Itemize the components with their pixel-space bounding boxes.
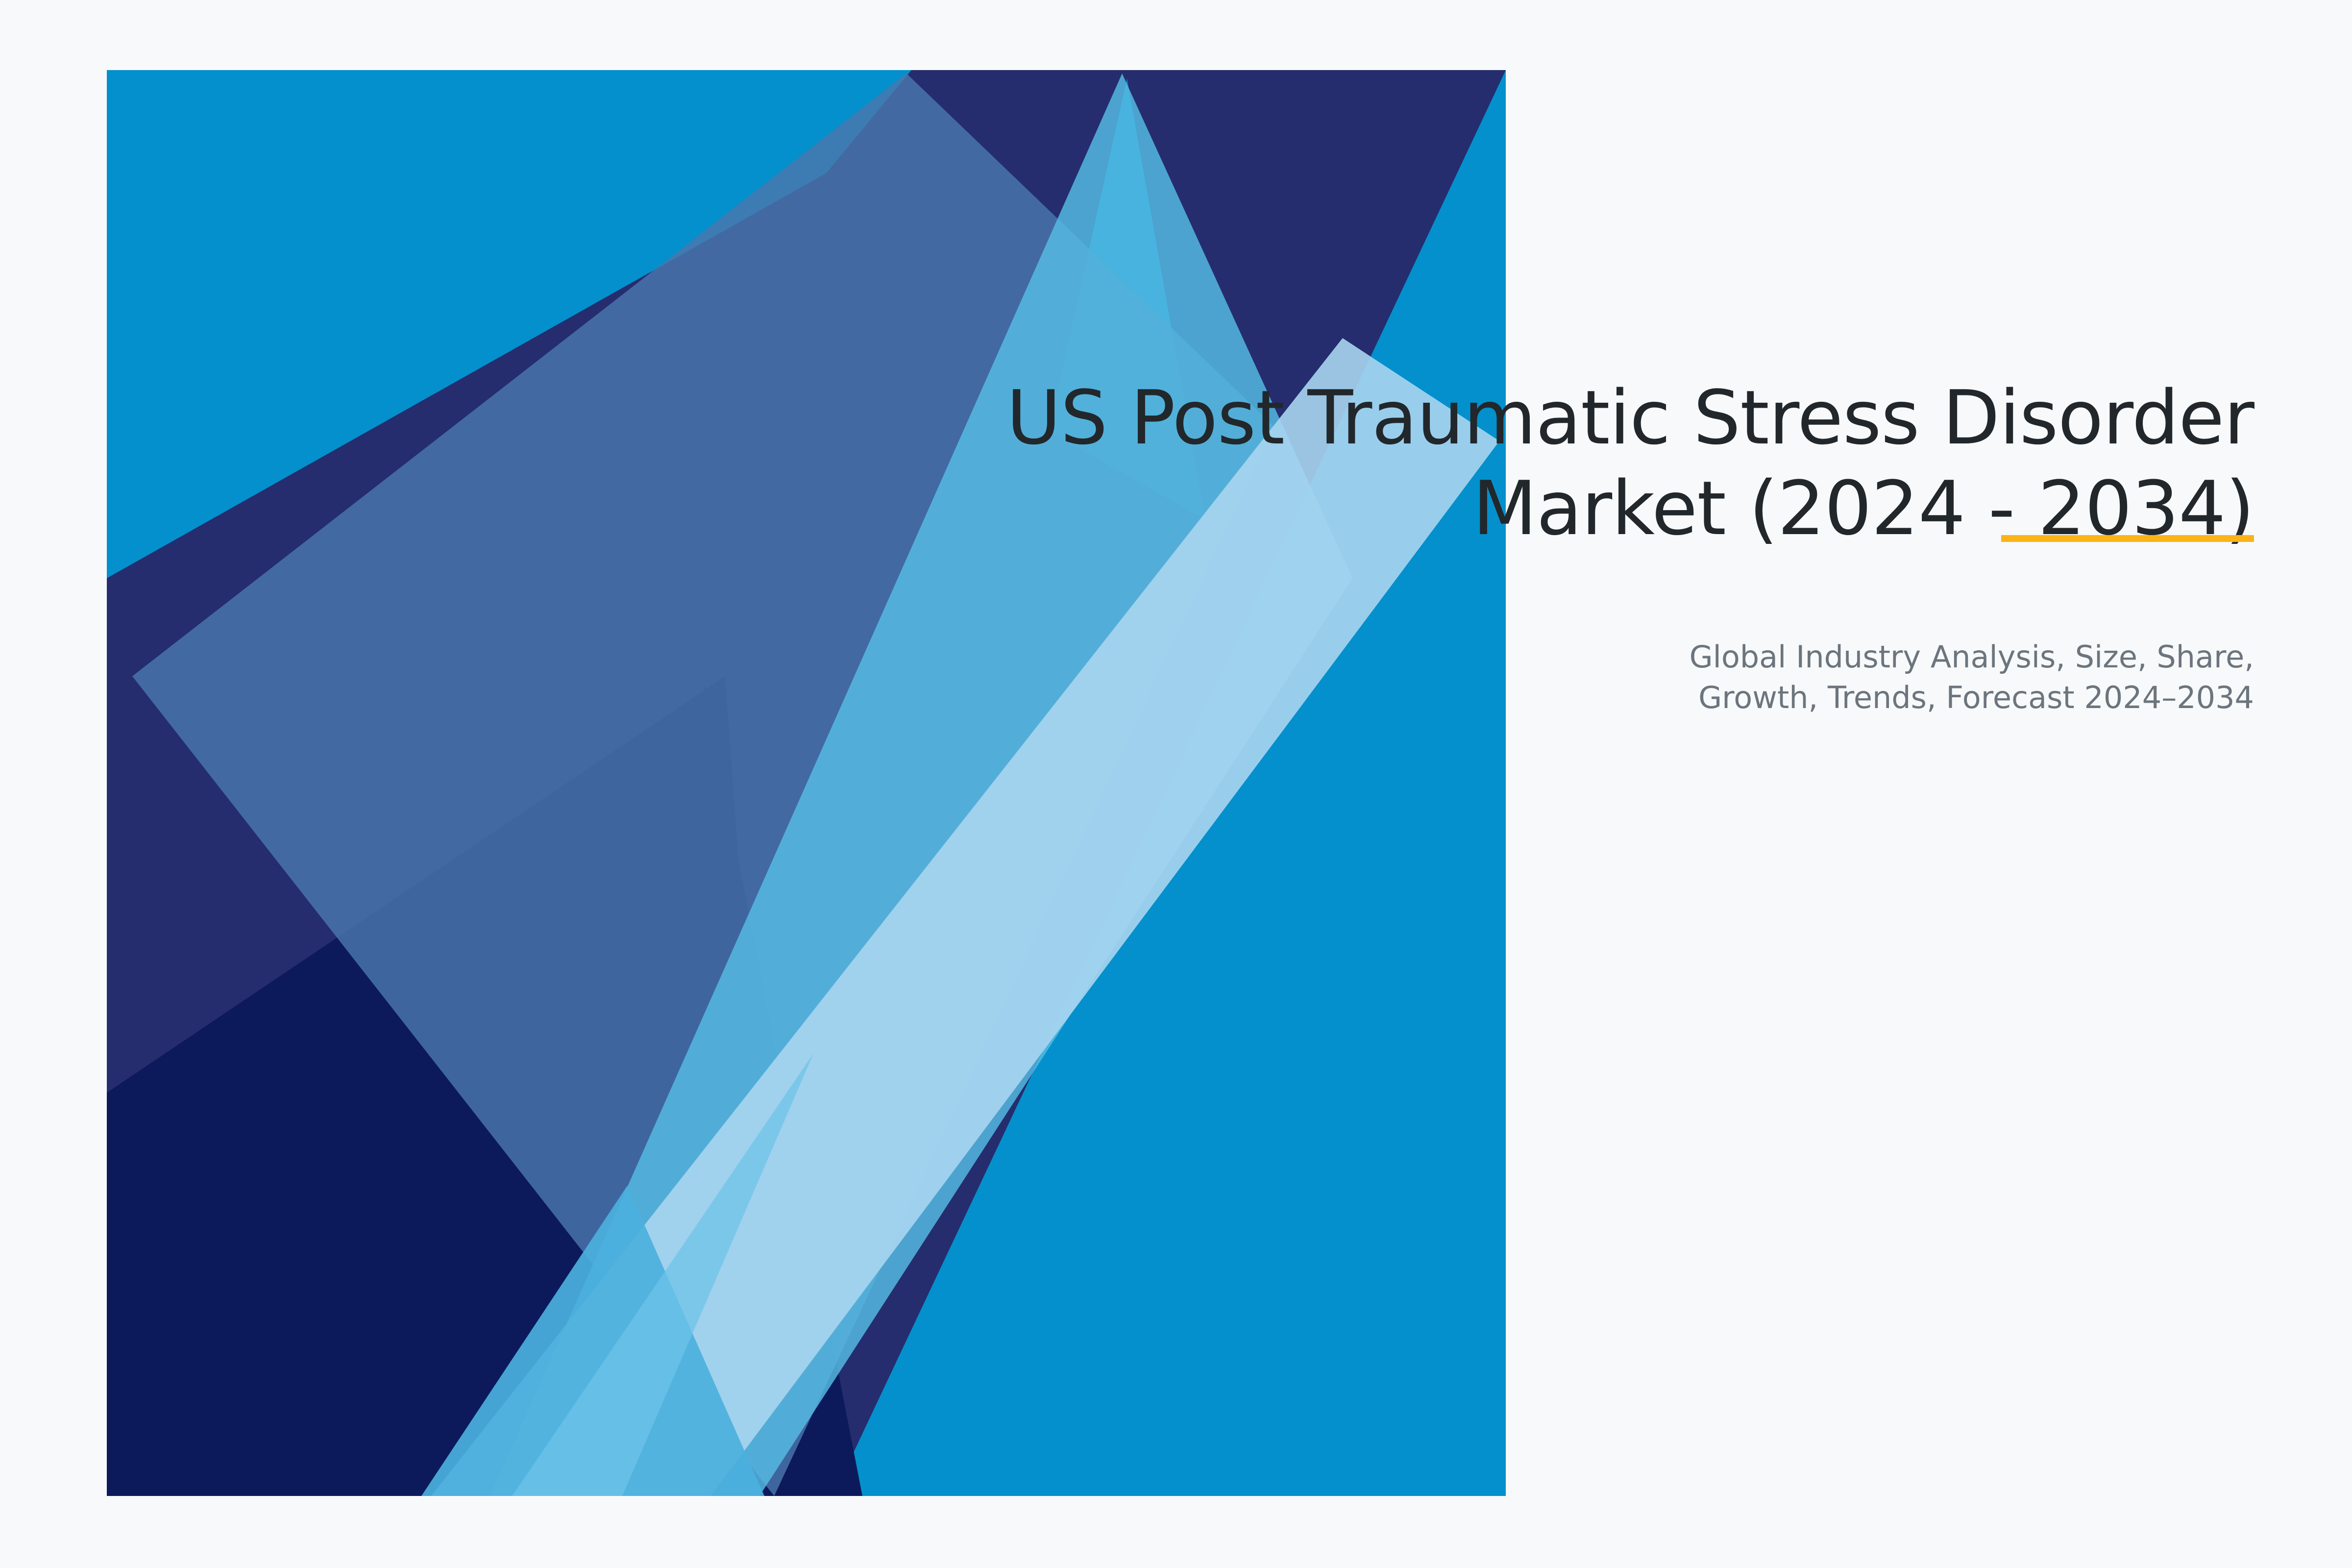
shape-sky-band	[490, 73, 1352, 1496]
report-cover-page: US Post Traumatic Stress Disorder Market…	[0, 0, 2352, 1568]
page-title: US Post Traumatic Stress Disorder Market…	[931, 372, 2254, 554]
shape-mid-blue-sliver	[421, 1186, 764, 1496]
shape-deep-navy-spear	[480, 686, 862, 1496]
page-subtitle-line-1: Global Industry Analysis, Size, Share,	[931, 637, 2254, 677]
page-title-line-1: US Post Traumatic Stress Disorder	[931, 372, 2254, 463]
shape-cyan-base	[107, 70, 1506, 1496]
page-subtitle: Global Industry Analysis, Size, Share, G…	[931, 637, 2254, 718]
shape-pale-bottom-wedge	[512, 1053, 813, 1496]
page-subtitle-line-2: Growth, Trends, Forecast 2024–2034	[931, 677, 2254, 718]
shape-deep-navy-lower	[107, 676, 784, 1496]
shape-indigo-upper-right	[686, 70, 1506, 343]
shape-indigo-sweep	[107, 70, 1506, 1496]
title-accent-underline	[2001, 535, 2254, 542]
cover-text-block: US Post Traumatic Stress Disorder Market…	[931, 372, 2254, 718]
shape-slate-panel	[132, 73, 1274, 1496]
abstract-polygon-cover-graphic	[0, 0, 2352, 1568]
